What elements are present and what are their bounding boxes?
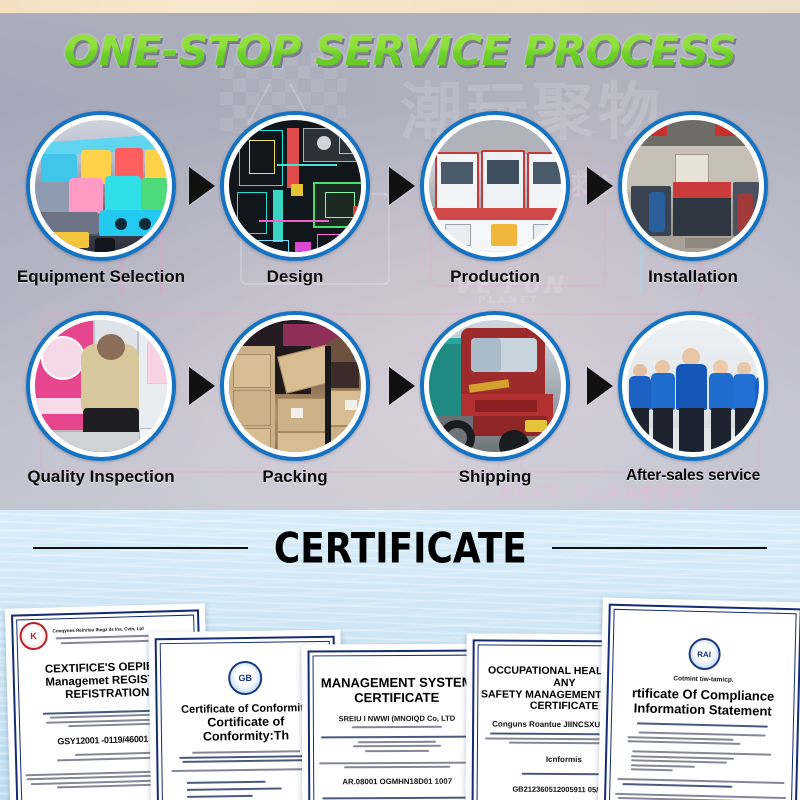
- top-band: [0, 0, 800, 13]
- step-label: Production: [400, 267, 590, 287]
- certificate-title-line-2: CERTIFICATE: [316, 690, 478, 705]
- certificate-standard: AR.08001 OGMHN18D01 1007: [316, 777, 478, 787]
- promo-page: 潮玩聚物 球Ⅱ VE FUN PLANET PLAY PLANET PLAY P…: [0, 0, 800, 800]
- certificate-heading: CERTIFICATE: [0, 523, 800, 573]
- page-title: ONE-STOP SERVICE PROCESS: [0, 27, 800, 75]
- rule-right: [552, 547, 767, 549]
- process-step-packing[interactable]: Packing: [200, 311, 390, 487]
- process-step-design[interactable]: Design: [200, 111, 390, 287]
- process-step-after-sales-service[interactable]: After-sales service: [598, 311, 788, 485]
- certificate-body: MANAGEMENT SYSTEM CERTIFICATE SREIU I NW…: [316, 658, 479, 800]
- decor-label: PLANET: [478, 295, 539, 306]
- step-circle: [26, 311, 176, 461]
- step-photo-installation: [627, 120, 759, 252]
- process-step-quality-inspection[interactable]: Quality Inspection: [6, 311, 196, 487]
- step-label: Equipment Selection: [6, 267, 196, 287]
- step-circle: [220, 111, 370, 261]
- certificate-card[interactable]: RAI Cotmint tiw-tamicp. rtificate Of Com…: [597, 598, 800, 800]
- decor-label: PLAY PLANET: [640, 483, 800, 510]
- certificate-section: CERTIFICATE K Conqynes Reinrisu Ihegz il…: [0, 510, 800, 800]
- step-photo-after-sales-service: [627, 320, 759, 452]
- step-label: Packing: [200, 467, 390, 487]
- certificate-title: CERTIFICATE: [274, 524, 527, 572]
- step-label: Shipping: [400, 467, 590, 487]
- certificate-title-line-2: Information Statement: [614, 700, 791, 719]
- certificate-org: Cotmint tiw-tamicp.: [615, 674, 792, 685]
- gb-seal-icon: GB: [228, 661, 262, 695]
- rule-left: [33, 547, 248, 549]
- certificate-title-line-1: MANAGEMENT SYSTEM: [316, 676, 478, 691]
- step-photo-production: [429, 120, 561, 252]
- step-photo-packing: [229, 320, 361, 452]
- step-circle: [220, 311, 370, 461]
- step-circle: [26, 111, 176, 261]
- process-step-equipment-selection[interactable]: Equipment Selection: [6, 111, 196, 287]
- step-label: Installation: [598, 267, 788, 287]
- step-label: After-sales service: [598, 467, 788, 485]
- rai-seal-icon: RAI: [688, 638, 721, 671]
- process-step-installation[interactable]: Installation: [598, 111, 788, 287]
- step-label: Design: [200, 267, 390, 287]
- certificate-card[interactable]: MANAGEMENT SYSTEM CERTIFICATE SREIU I NW…: [301, 644, 492, 800]
- process-step-production[interactable]: Production: [400, 111, 590, 287]
- step-circle: [420, 111, 570, 261]
- step-photo-equipment-selection: [35, 120, 167, 252]
- certificates-gallery: K Conqynes Reinrisu Ihegz ils Ina. Cvin,…: [0, 576, 800, 800]
- step-circle: [618, 111, 768, 261]
- certificate-org: SREIU I NWWI (MNOIQD Co, LTD: [316, 714, 478, 724]
- process-section: 潮玩聚物 球Ⅱ VE FUN PLANET PLAY PLANET PLAY P…: [0, 13, 800, 510]
- step-circle: [618, 311, 768, 461]
- step-photo-quality-inspection: [35, 320, 167, 452]
- step-photo-shipping: [429, 320, 561, 452]
- registrar-seal-icon: K: [19, 622, 48, 651]
- step-photo-design: [229, 120, 361, 252]
- step-label: Quality Inspection: [6, 467, 196, 487]
- certificate-body: RAI Cotmint tiw-tamicp. rtificate Of Com…: [611, 612, 793, 800]
- step-circle: [420, 311, 570, 461]
- process-step-shipping[interactable]: Shipping: [400, 311, 590, 487]
